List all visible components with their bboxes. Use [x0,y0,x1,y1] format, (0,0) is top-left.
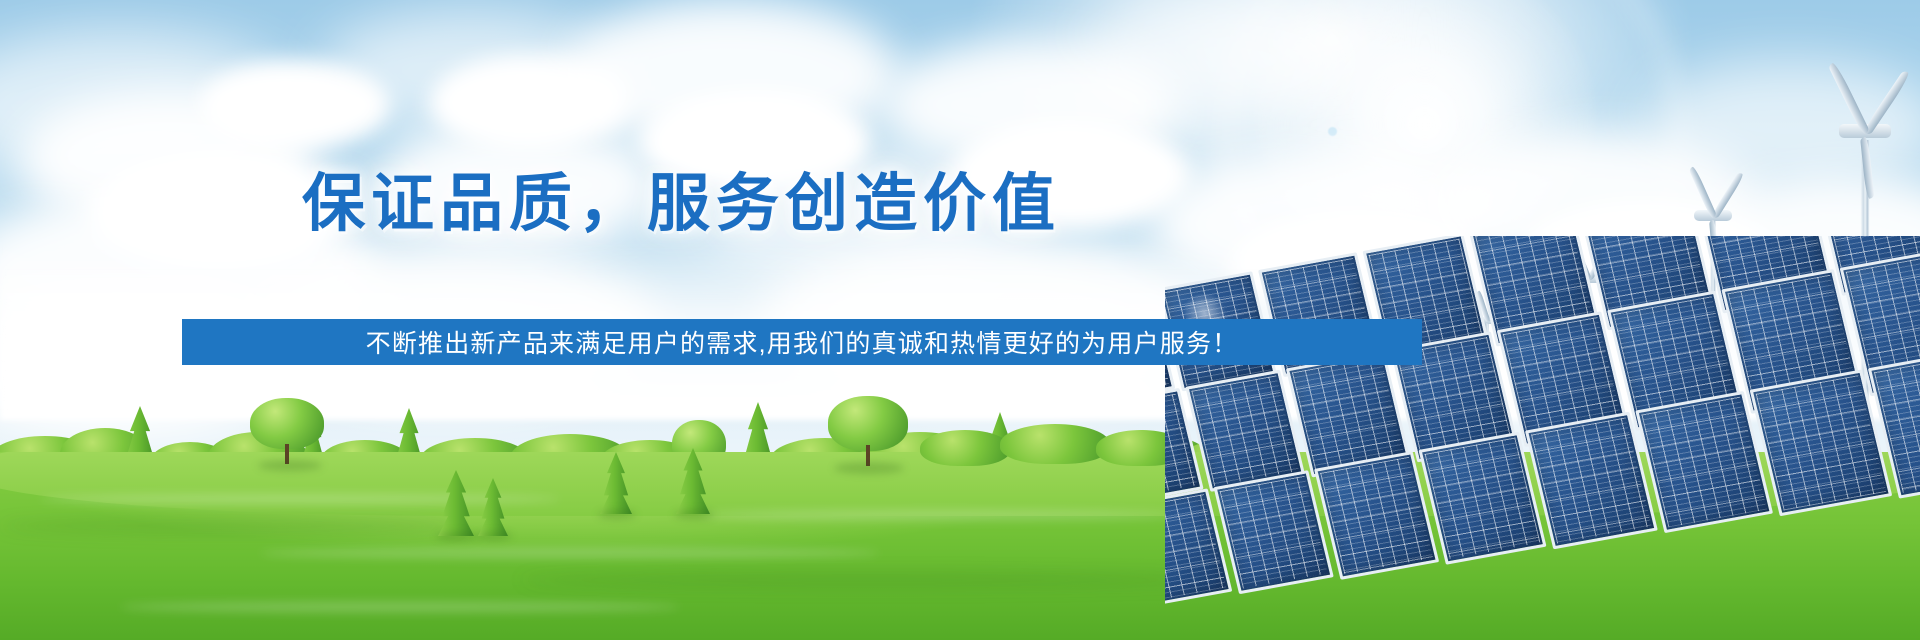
banner-headline: 保证品质，服务创造价值 [302,168,1002,240]
hero-banner: 保证品质，服务创造价值 不断推出新产品来满足用户的需求,用我们的真诚和热情更好的… [0,0,1920,640]
lens-flare-dot [1328,127,1337,136]
solar-panel-array [1165,236,1920,640]
banner-subtitle-bar: 不断推出新产品来满足用户的需求,用我们的真诚和热情更好的为用户服务！ [182,319,1422,365]
banner-subtitle-text: 不断推出新产品来满足用户的需求,用我们的真诚和热情更好的为用户服务！ [366,324,1239,360]
